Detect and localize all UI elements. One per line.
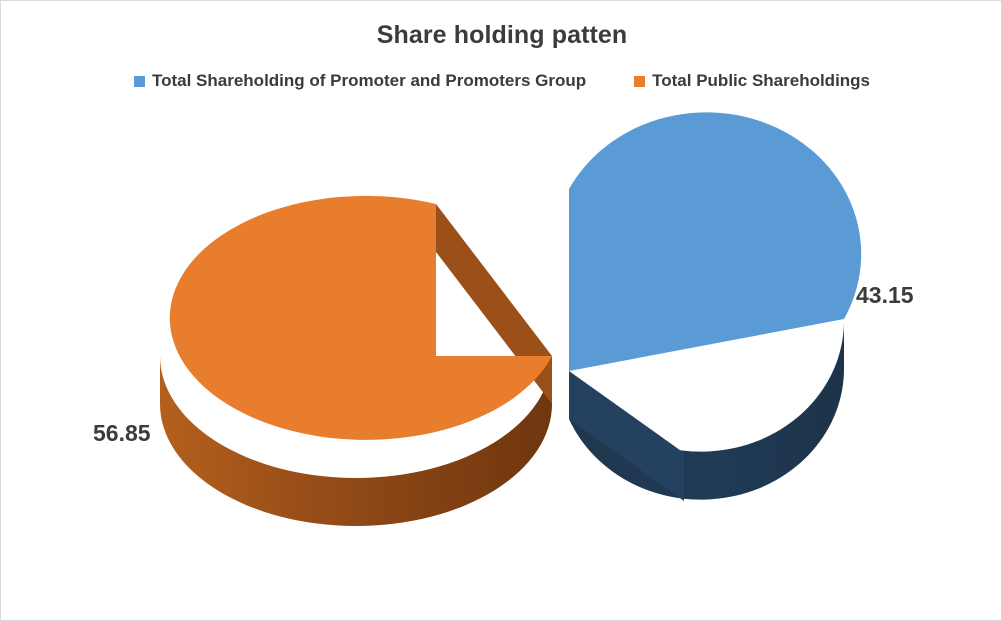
pie-slice-public[interactable] [160,196,552,526]
data-label-promoter: 43.15 [856,282,914,308]
data-label-public: 56.85 [93,420,151,446]
pie-chart-graphic: 43.15 56.85 [1,1,1002,621]
pie-slice-promoter[interactable] [569,112,861,501]
chart-container: Share holding patten Total Shareholding … [0,0,1002,621]
pie-slice-promoter-top [569,112,861,371]
